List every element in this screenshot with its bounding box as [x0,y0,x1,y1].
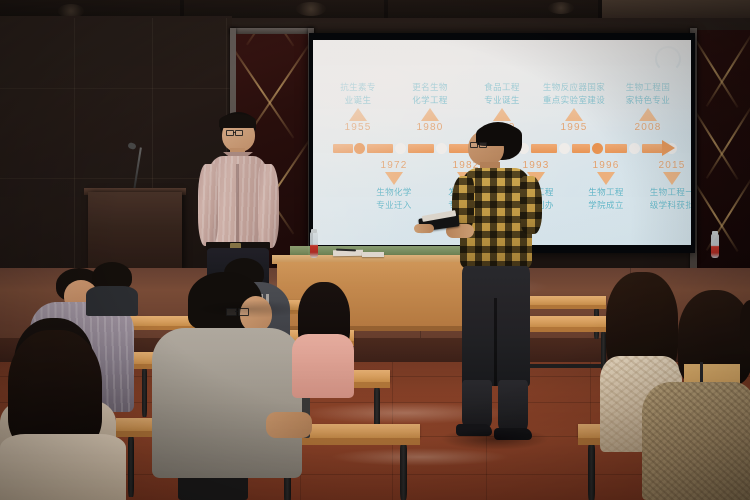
paper-stack [362,252,384,257]
wall-seam [74,18,75,268]
floor-shadow [440,428,550,450]
marker-caption: 生物工程国 [605,82,691,93]
projector-hotspot [377,46,490,79]
lecture-hall-scene: 抗生素专 业诞生 1955 更名生物 化学工程 1980 食品工程 专业诞生 1… [0,0,750,500]
timeline-segment [642,144,664,153]
lattice-line [246,34,308,45]
top [86,286,138,316]
knit-top [642,382,750,500]
timeline-node [629,143,640,154]
decorative-wall-panel-right [697,30,750,270]
arrow-head-icon [662,140,675,156]
timeline-marker-2015: 2015 生物工程一 级学科获批 [629,160,691,211]
top [0,434,126,500]
lattice-line [697,106,739,180]
timeline-node [436,143,447,154]
lattice-line [697,34,739,108]
timeline-segment [408,144,434,153]
shirt-placket [236,164,239,246]
triangle-up-icon [639,108,657,121]
bottle-cap [311,229,317,233]
lower-leg [498,380,528,432]
right-sleeve [520,176,542,234]
circular-logo-icon [655,46,681,72]
timeline-node [592,143,603,154]
lectern [88,192,182,270]
knit-pattern [642,382,750,500]
audience-member-9 [86,262,140,314]
marker-year: 2015 [629,160,691,171]
pink-top [292,334,354,398]
triangle-down-icon [385,172,403,185]
glasses-icon [226,130,252,136]
standing-speaker-right [450,122,560,442]
timeline-segment [572,144,590,153]
timeline-segment [367,144,393,153]
floor-shadow [190,300,310,318]
triangle-up-icon [493,108,511,121]
timeline-node [395,143,406,154]
marker-caption: 生物工程一 [629,187,691,198]
ponytail [740,300,750,352]
hand [414,224,434,233]
triangle-up-icon [421,108,439,121]
left-arm [198,164,218,246]
floor-reflection [330,448,510,466]
triangle-up-icon [349,108,367,121]
lower-leg [462,380,492,428]
timeline-segment [605,144,627,153]
wall-seam [0,88,232,89]
hair [219,114,256,128]
audience-member-7 [0,330,130,500]
ceiling-light [296,2,326,16]
audience-member-6 [648,290,750,500]
marker-caption: 级学科获批 [629,200,691,211]
timeline-marker-2008: 生物工程国 家特色专业 2008 [605,82,691,133]
arm [266,412,312,438]
timeline-segment [333,144,353,153]
timeline-node [354,143,365,154]
lattice-line [236,34,294,46]
marker-caption: 家特色专业 [605,95,691,106]
water-bottle [310,232,318,258]
hair [8,330,102,450]
triangle-up-icon [565,108,583,121]
jeans-seam [494,298,497,386]
triangle-down-icon [597,172,615,185]
glasses-icon [470,142,494,148]
grey-tshirt [152,328,302,478]
audience-member-4 [292,282,362,402]
bottle-cap [712,231,718,235]
marker-year: 2008 [605,122,691,133]
right-arm [258,164,279,248]
triangle-down-icon [663,172,681,185]
ceiling-light [548,2,574,14]
water-bottle [711,234,719,258]
timeline-node [559,143,570,154]
